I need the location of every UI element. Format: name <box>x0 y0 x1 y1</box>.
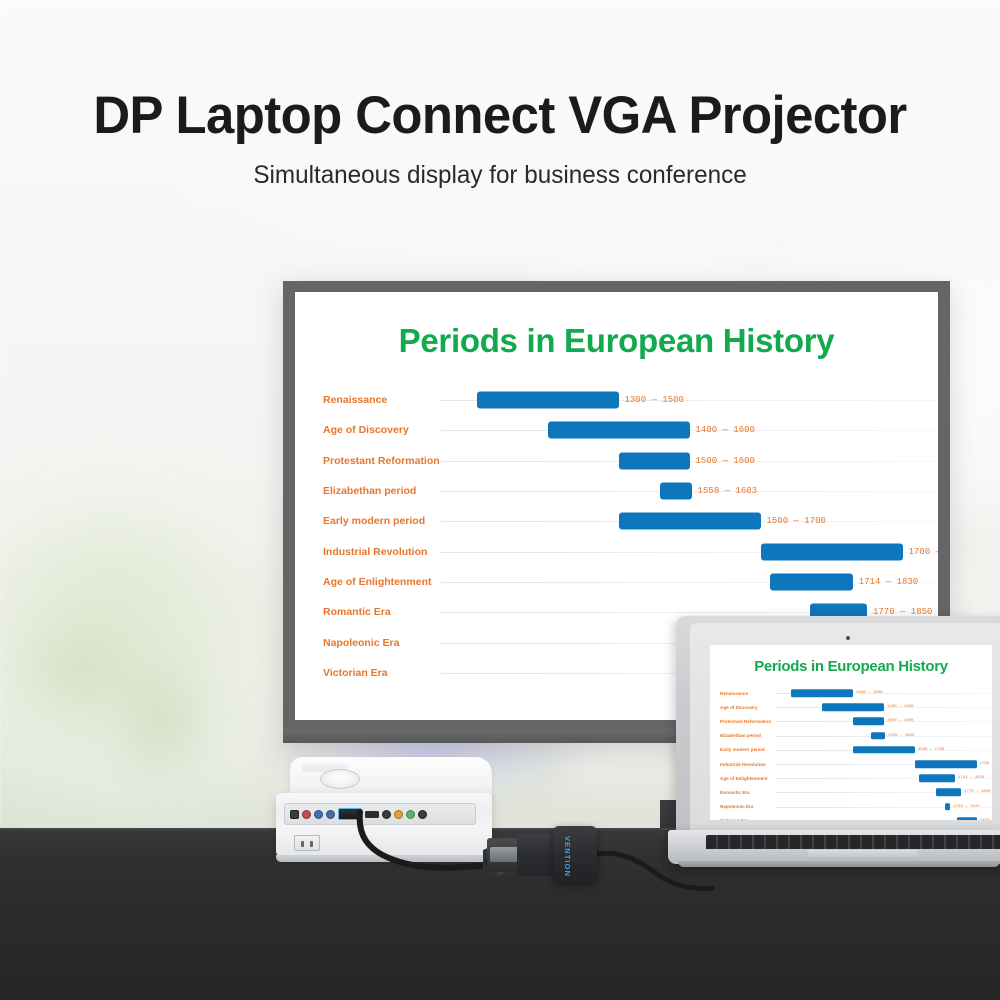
projector-power-socket-icon <box>294 835 320 851</box>
port-component-blue-icon <box>314 810 323 819</box>
chart-range-label: 1714 — 1830 <box>958 776 984 780</box>
chart-bar <box>761 543 903 560</box>
chart-row: Age of Discovery1400 — 1600 <box>720 700 992 714</box>
chart-rows-laptop: Renaissance1300 — 1500Age of Discovery14… <box>710 686 992 820</box>
chart-bar <box>791 689 853 697</box>
chart-row-track: 1558 — 1603 <box>441 476 938 506</box>
chart-bar <box>619 452 690 469</box>
chart-row-track: 1500 — 1700 <box>776 743 992 757</box>
chart-guide-line <box>776 707 992 708</box>
chart-row-label: Industrial Revolution <box>720 762 776 767</box>
dp-to-vga-adapter: VENTION <box>487 820 607 892</box>
chart-row: Early modern period1500 — 1700 <box>720 743 992 757</box>
laptop-screen: Periods in European History Renaissance1… <box>710 645 992 820</box>
chart-range-label: 1500 — 1700 <box>767 516 826 526</box>
page-subtitle: Simultaneous display for business confer… <box>15 161 985 190</box>
laptop-device: Periods in European History Renaissance1… <box>668 616 1000 881</box>
chart-row-label: Victorian Era <box>720 818 776 820</box>
chart-row: Age of Enlightenment1714 — 1830 <box>323 567 938 597</box>
laptop-front-edge <box>678 861 1000 867</box>
chart-bar <box>919 774 955 782</box>
chart-row-track: 1837 — 1901 <box>776 814 992 820</box>
chart-range-label: 1700 — 1900 <box>909 547 939 557</box>
chart-row-label: Age of Enlightenment <box>323 576 441 588</box>
chart-row: Age of Discovery1400 — 1600 <box>323 415 938 445</box>
chart-row-label: Early modern period <box>720 747 776 752</box>
laptop-bezel: Periods in European History Renaissance1… <box>690 623 1000 830</box>
port-optical-icon <box>290 810 299 819</box>
chart-bar <box>770 573 852 590</box>
laptop-keyboard[interactable] <box>706 835 1000 849</box>
webcam-icon <box>846 636 850 640</box>
chart-row-label: Renaissance <box>323 394 441 406</box>
chart-title: Periods in European History <box>295 292 938 360</box>
chart-bar <box>936 789 961 797</box>
chart-row-label: Age of Discovery <box>323 424 441 436</box>
chart-row-track: 1770 — 1850 <box>776 785 992 799</box>
chart-bar <box>853 746 915 754</box>
chart-row-label: Age of Enlightenment <box>720 776 776 781</box>
chart-bar <box>548 422 690 439</box>
chart-row-label: Protestant Reformation <box>720 719 776 724</box>
chart-row: Elizabethan period1558 — 1603 <box>720 729 992 743</box>
chart-range-label: 1714 — 1830 <box>859 577 918 587</box>
chart-row: Early modern period1500 — 1700 <box>323 506 938 536</box>
chart-row-label: Early modern period <box>323 515 441 527</box>
chart-row-label: Romantic Era <box>720 790 776 795</box>
laptop-lid: Periods in European History Renaissance1… <box>676 616 1000 836</box>
chart-row-track: 1700 — 1900 <box>776 757 992 771</box>
chart-bar <box>915 760 977 768</box>
chart-bar <box>660 483 692 500</box>
chart-row: Protestant Reformation1500 — 1600 <box>323 446 938 476</box>
chart-row: Victorian Era1837 — 1901 <box>720 814 992 820</box>
chart-row-track: 1300 — 1500 <box>441 385 938 415</box>
chart-range-label: 1400 — 1600 <box>696 425 755 435</box>
chart-bar <box>477 392 619 409</box>
background-plant <box>10 600 240 810</box>
chart-row-track: 1500 — 1600 <box>776 714 992 728</box>
chart-row-track: 1714 — 1830 <box>776 771 992 785</box>
chart-bar <box>853 718 884 726</box>
laptop-trackpad[interactable] <box>808 850 918 857</box>
chart-row-track: 1700 — 1900 <box>441 536 938 566</box>
chart-range-label: 1500 — 1700 <box>918 748 944 752</box>
chart-row-label: Protestant Reformation <box>323 455 441 467</box>
chart-range-label: 1770 — 1850 <box>964 790 990 794</box>
projector-lens-icon <box>320 769 360 789</box>
chart-bar <box>871 732 885 740</box>
chart-range-label: 1558 — 1603 <box>698 486 757 496</box>
chart-laptop: Periods in European History Renaissance1… <box>710 645 992 820</box>
chart-title-laptop: Periods in European History <box>710 645 992 675</box>
chart-row-label: Napoleonic Era <box>720 804 776 809</box>
chart-row-track: 1558 — 1603 <box>776 729 992 743</box>
chart-row-track: 1400 — 1600 <box>441 415 938 445</box>
chart-bar <box>957 817 977 820</box>
chart-row: Elizabethan period1558 — 1603 <box>323 476 938 506</box>
chart-range-label: 1500 — 1600 <box>887 719 913 723</box>
chart-row-label: Romantic Era <box>323 606 441 618</box>
chart-guide-line <box>776 721 992 722</box>
chart-range-label: 1700 — 1900 <box>980 762 992 766</box>
chart-row: Industrial Revolution1700 — 1900 <box>720 757 992 771</box>
chart-range-label: 1558 — 1603 <box>888 734 914 738</box>
chart-row-label: Elizabethan period <box>720 733 776 738</box>
chart-row-track: 1714 — 1830 <box>441 567 938 597</box>
chart-row-label: Age of Discovery <box>720 705 776 710</box>
chart-row: Industrial Revolution1700 — 1900 <box>323 536 938 566</box>
chart-guide-line <box>441 430 938 431</box>
chart-row-track: 1799 — 1815 <box>776 800 992 814</box>
chart-range-label: 1799 — 1815 <box>953 805 979 809</box>
chart-row-track: 1500 — 1700 <box>441 506 938 536</box>
chart-row: Napoleonic Era1799 — 1815 <box>720 800 992 814</box>
chart-row-label: Victorian Era <box>323 667 441 679</box>
chart-bar <box>619 513 761 530</box>
chart-row-track: 1400 — 1600 <box>776 700 992 714</box>
chart-row: Renaissance1300 — 1500 <box>323 385 938 415</box>
header: DP Laptop Connect VGA Projector Simultan… <box>0 0 1000 190</box>
chart-row-label: Industrial Revolution <box>323 546 441 558</box>
chart-bar <box>945 803 950 811</box>
chart-row-track: 1500 — 1600 <box>441 446 938 476</box>
chart-row: Renaissance1300 — 1500 <box>720 686 992 700</box>
chart-range-label: 1300 — 1500 <box>856 691 882 695</box>
chart-guide-line <box>441 461 938 462</box>
page-title: DP Laptop Connect VGA Projector <box>20 88 980 144</box>
chart-row: Age of Enlightenment1714 — 1830 <box>720 771 992 785</box>
chart-row-track: 1300 — 1500 <box>776 686 992 700</box>
port-audio-red-icon <box>302 810 311 819</box>
chart-row: Protestant Reformation1500 — 1600 <box>720 714 992 728</box>
chart-row-label: Napoleonic Era <box>323 637 441 649</box>
chart-range-label: 1300 — 1500 <box>625 395 684 405</box>
chart-row-label: Renaissance <box>720 691 776 696</box>
chart-row: Romantic Era1770 — 1850 <box>720 785 992 799</box>
chart-row-label: Elizabethan period <box>323 485 441 497</box>
chart-range-label: 1500 — 1600 <box>696 456 755 466</box>
adapter-brand-label: VENTION <box>563 836 572 877</box>
chart-range-label: 1837 — 1901 <box>980 819 992 820</box>
chart-bar <box>822 703 884 711</box>
chart-range-label: 1400 — 1600 <box>887 705 913 709</box>
adapter-housing <box>553 826 597 882</box>
adapter-vga-plug <box>487 838 521 872</box>
